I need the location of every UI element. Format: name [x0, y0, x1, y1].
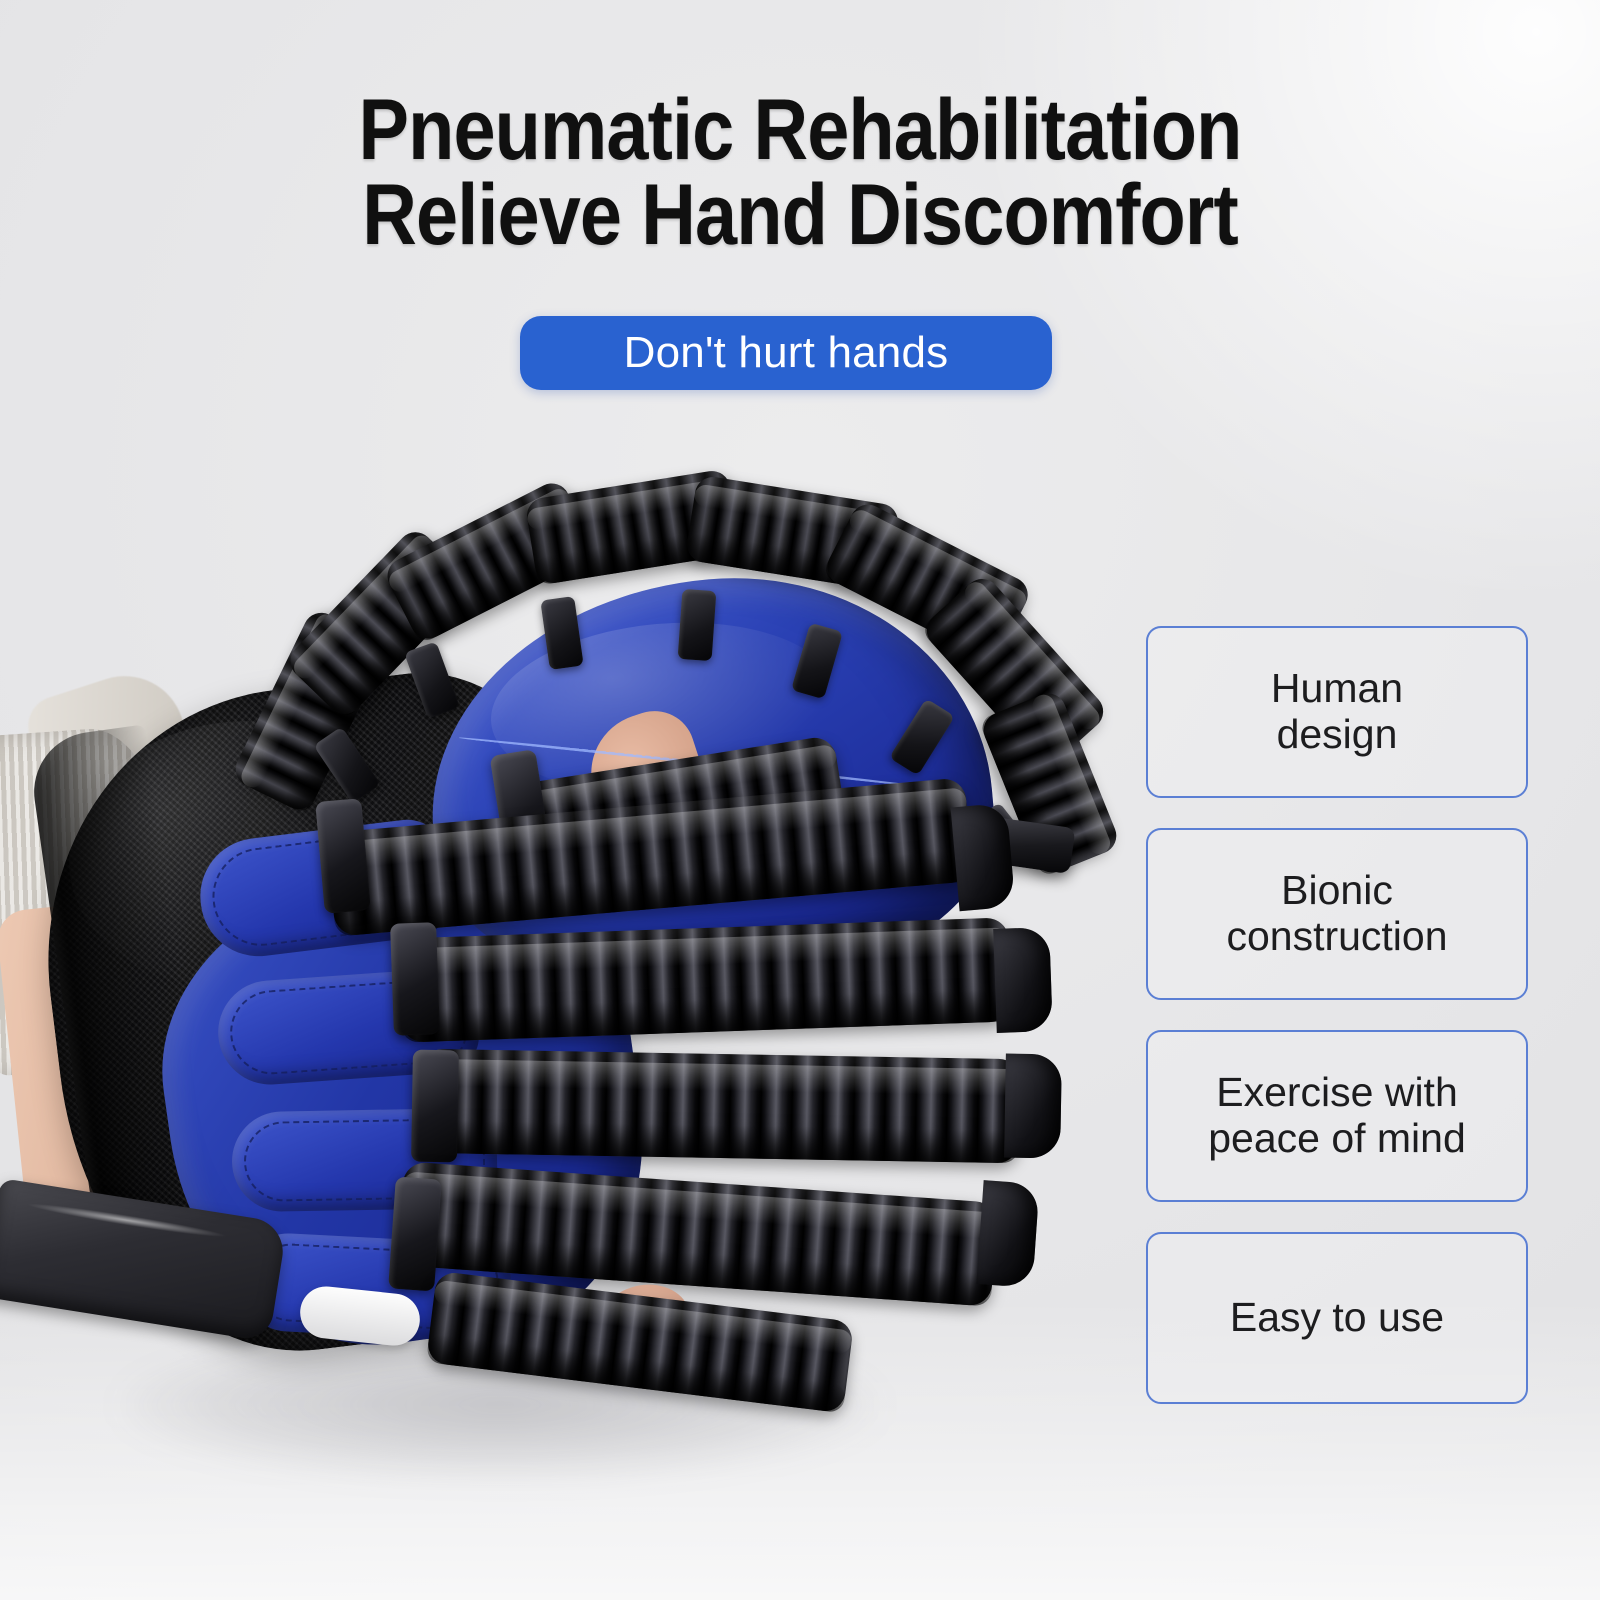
actuator-clamp: [411, 1050, 459, 1163]
tagline-badge: Don't hurt hands: [520, 316, 1052, 390]
actuator-clamp: [388, 1177, 442, 1292]
actuator-end-cap: [993, 927, 1053, 1033]
tagline-badge-label: Don't hurt hands: [624, 328, 949, 378]
product-photo-rehabilitation-glove: [0, 430, 1120, 1490]
feature-label: Exercise with peace of mind: [1208, 1070, 1466, 1162]
headline-line-1: Pneumatic Rehabilitation: [359, 82, 1242, 178]
feature-box-human-design[interactable]: Human design: [1146, 626, 1528, 798]
feature-box-bionic-construction[interactable]: Bionic construction: [1146, 828, 1528, 1000]
headline-line-2: Relieve Hand Discomfort: [96, 173, 1504, 258]
actuator-end-cap: [1004, 1054, 1062, 1159]
feature-label: Human design: [1271, 666, 1403, 758]
actuator-clamp: [390, 922, 440, 1036]
poster-canvas: Pneumatic Rehabilitation Relieve Hand Di…: [0, 0, 1600, 1600]
finger-actuator-row: [398, 917, 1011, 1042]
feature-box-easy-to-use[interactable]: Easy to use: [1146, 1232, 1528, 1404]
feature-list: Human design Bionic construction Exercis…: [1146, 626, 1528, 1434]
feature-label: Bionic construction: [1226, 868, 1447, 960]
feature-box-exercise-peace-of-mind[interactable]: Exercise with peace of mind: [1146, 1030, 1528, 1202]
actuator-connector-tab: [678, 589, 717, 661]
finger-actuator-row: [419, 1049, 1021, 1163]
actuator-end-cap: [976, 1180, 1039, 1288]
feature-label: Easy to use: [1230, 1295, 1444, 1341]
page-title: Pneumatic Rehabilitation Relieve Hand Di…: [96, 88, 1504, 258]
actuator-clamp: [315, 798, 371, 914]
